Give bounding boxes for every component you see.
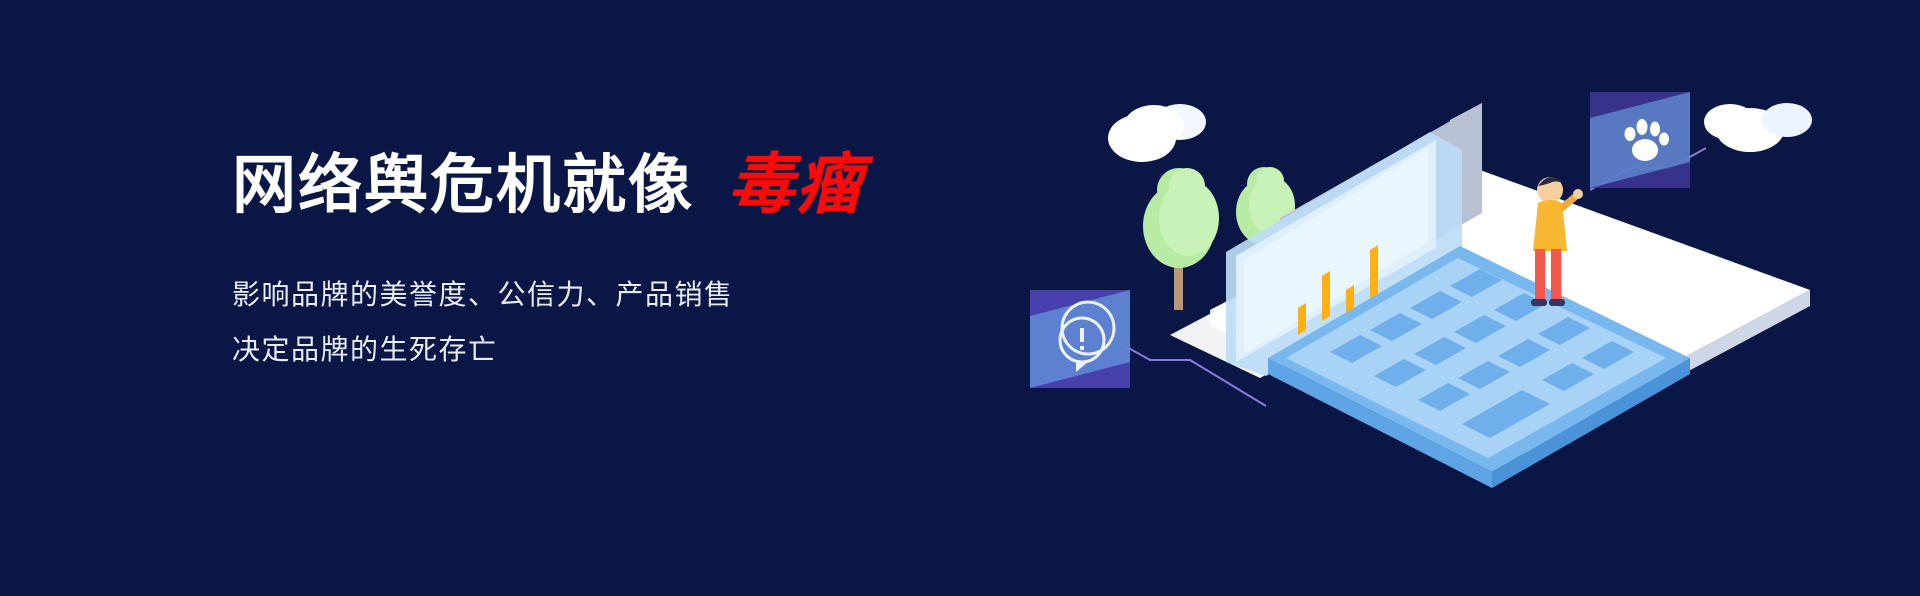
hero-banner: 网络舆危机就像 毒瘤 影响品牌的美誉度、公信力、产品销售 决定品牌的生死存亡 [0,0,1920,596]
hero-illustration [1030,40,1910,560]
subtitle-line-2: 决定品牌的生死存亡 [232,323,1052,378]
banner-copy: 网络舆危机就像 毒瘤 影响品牌的美誉度、公信力、产品销售 决定品牌的生死存亡 [232,150,1052,377]
alert-bubble-icon [1030,290,1130,388]
tree-icon [1143,168,1219,310]
headline-red-text: 毒瘤 [728,150,864,220]
cloud-icon [1704,103,1812,152]
paw-print-icon [1590,92,1690,188]
headline-white-text: 网络舆危机就像 [232,152,694,220]
cloud-icon [1108,104,1206,162]
banner-subtitle: 影响品牌的美誉度、公信力、产品销售 决定品牌的生死存亡 [232,268,1052,377]
subtitle-line-1: 影响品牌的美誉度、公信力、产品销售 [232,268,1052,323]
page-title: 网络舆危机就像 毒瘤 [232,150,1052,220]
